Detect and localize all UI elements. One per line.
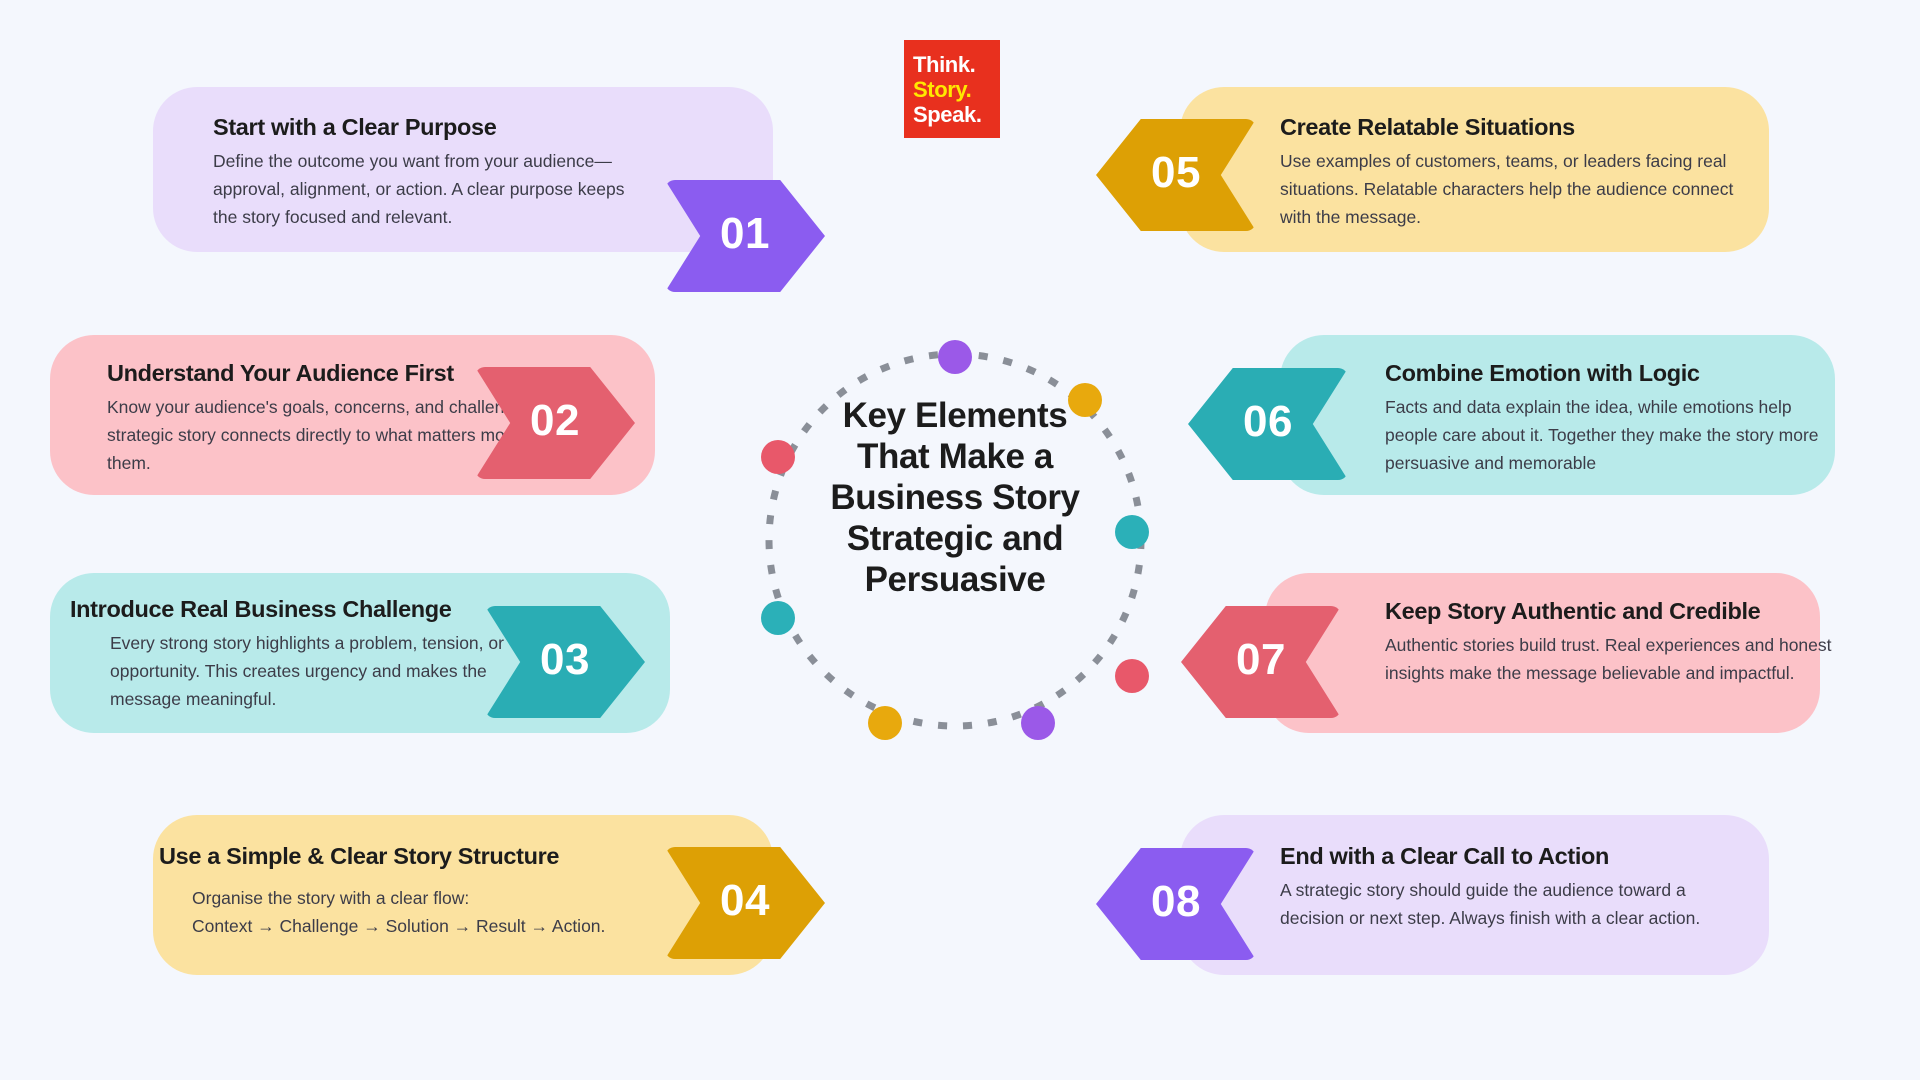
card-02-number: 02 (530, 396, 580, 446)
dot-bottom-left (868, 706, 902, 740)
logo-line-think: Think. (913, 52, 1000, 77)
card-02[interactable]: Understand Your Audience First Know your… (50, 335, 655, 495)
card-03-title: Introduce Real Business Challenge (70, 595, 550, 623)
card-05-text: Create Relatable Situations Use examples… (1280, 113, 1750, 231)
card-07-number-badge: 07 (1181, 606, 1341, 718)
card-03-body: Every strong story highlights a problem,… (70, 629, 550, 713)
card-07-body: Authentic stories build trust. Real expe… (1385, 631, 1855, 687)
card-05-title: Create Relatable Situations (1280, 113, 1750, 141)
card-08-body: A strategic story should guide the audie… (1280, 876, 1740, 932)
brand-logo: Think. Story. Speak. (904, 40, 1000, 138)
card-05-body: Use examples of customers, teams, or lea… (1280, 147, 1750, 231)
card-01[interactable]: Start with a Clear Purpose Define the ou… (153, 87, 773, 252)
dot-top-left (938, 340, 972, 374)
card-04-body-line-2: Context → Challenge → Solution → Result … (192, 916, 605, 936)
card-05-number-badge: 05 (1096, 119, 1256, 231)
card-07-title: Keep Story Authentic and Credible (1385, 597, 1855, 625)
center-title-line-4: Strategic and (785, 518, 1125, 559)
center-hub: Key Elements That Make a Business Story … (755, 340, 1155, 740)
card-07-text: Keep Story Authentic and Credible Authen… (1385, 597, 1855, 687)
card-06-body: Facts and data explain the idea, while e… (1385, 393, 1845, 477)
card-03-text: Introduce Real Business Challenge Every … (70, 595, 550, 713)
center-title-line-3: Business Story (785, 477, 1125, 518)
dot-lower-left (761, 601, 795, 635)
card-06-number-badge: 06 (1188, 368, 1348, 480)
page-title: Key Elements That Make a Business Story … (785, 395, 1125, 600)
card-06-text: Combine Emotion with Logic Facts and dat… (1385, 359, 1845, 477)
card-04-title: Use a Simple & Clear Story Structure (159, 842, 679, 870)
card-08-number: 08 (1151, 877, 1201, 927)
card-04-number-badge: 04 (665, 847, 825, 959)
logo-line-story: Story. (913, 77, 1000, 102)
card-08-text: End with a Clear Call to Action A strate… (1280, 842, 1740, 932)
center-title-line-5: Persuasive (785, 559, 1125, 600)
card-08-number-badge: 08 (1096, 848, 1256, 960)
card-01-title: Start with a Clear Purpose (213, 113, 633, 141)
card-01-number: 01 (720, 209, 770, 259)
card-04-number: 04 (720, 876, 770, 926)
logo-line-speak: Speak. (913, 102, 1000, 127)
card-08[interactable]: End with a Clear Call to Action A strate… (1180, 815, 1769, 975)
card-07[interactable]: Keep Story Authentic and Credible Authen… (1265, 573, 1820, 733)
card-01-text: Start with a Clear Purpose Define the ou… (213, 113, 633, 231)
card-07-number: 07 (1236, 635, 1286, 685)
center-title-line-1: Key Elements (785, 395, 1125, 436)
card-05-number: 05 (1151, 148, 1201, 198)
card-06-title: Combine Emotion with Logic (1385, 359, 1845, 387)
dot-lower-right (1115, 659, 1149, 693)
card-03[interactable]: Introduce Real Business Challenge Every … (50, 573, 670, 733)
center-title-line-2: That Make a (785, 436, 1125, 477)
infographic-canvas: Think. Story. Speak. Key Elements That M… (0, 0, 1920, 1080)
card-05[interactable]: Create Relatable Situations Use examples… (1180, 87, 1769, 252)
card-01-body: Define the outcome you want from your au… (213, 147, 633, 231)
card-04-body: Organise the story with a clear flow: Co… (159, 884, 679, 940)
card-08-title: End with a Clear Call to Action (1280, 842, 1740, 870)
card-04-text: Use a Simple & Clear Story Structure Org… (159, 842, 679, 940)
dot-bottom-right (1021, 706, 1055, 740)
card-06-number: 06 (1243, 397, 1293, 447)
card-01-number-badge: 01 (665, 180, 825, 292)
card-03-number: 03 (540, 635, 590, 685)
card-06[interactable]: Combine Emotion with Logic Facts and dat… (1280, 335, 1835, 495)
card-04-body-line-1: Organise the story with a clear flow: (192, 888, 469, 908)
card-04[interactable]: Use a Simple & Clear Story Structure Org… (153, 815, 773, 975)
